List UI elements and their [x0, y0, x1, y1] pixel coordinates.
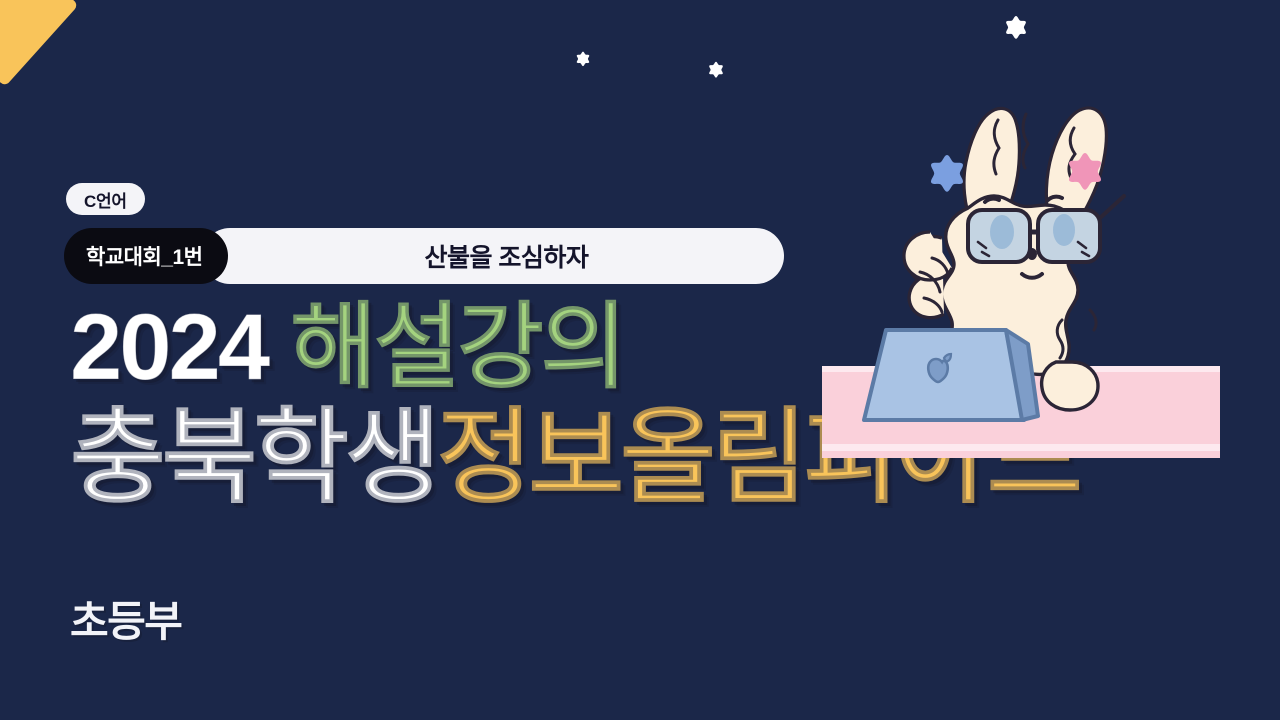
problem-pill-title-label: 산불을 조심하자: [202, 228, 784, 284]
headline-region: 충북학생: [70, 400, 437, 516]
headline-lecture: 해설강의: [290, 294, 624, 399]
star-blue-decoration: [931, 155, 963, 192]
language-badge: C언어: [66, 183, 145, 215]
bunny-at-laptop-illustration: [820, 10, 1260, 460]
thumbnail-canvas: C언어 학교대회_1번 산불을 조심하자 2024 해설강의 충북학생정보올림피…: [0, 0, 1280, 720]
problem-pill: 학교대회_1번 산불을 조심하자: [64, 228, 784, 284]
headline-year: 2024: [70, 294, 290, 399]
problem-pill-round-label: 학교대회_1번: [64, 228, 228, 284]
background-star-left: [572, 50, 594, 72]
laptop: [864, 330, 1038, 420]
illustration-top-star: [1006, 16, 1026, 39]
division-subtitle: 초등부: [70, 588, 181, 649]
corner-wedge-decoration: [0, 0, 79, 87]
background-star-right: [704, 60, 728, 84]
